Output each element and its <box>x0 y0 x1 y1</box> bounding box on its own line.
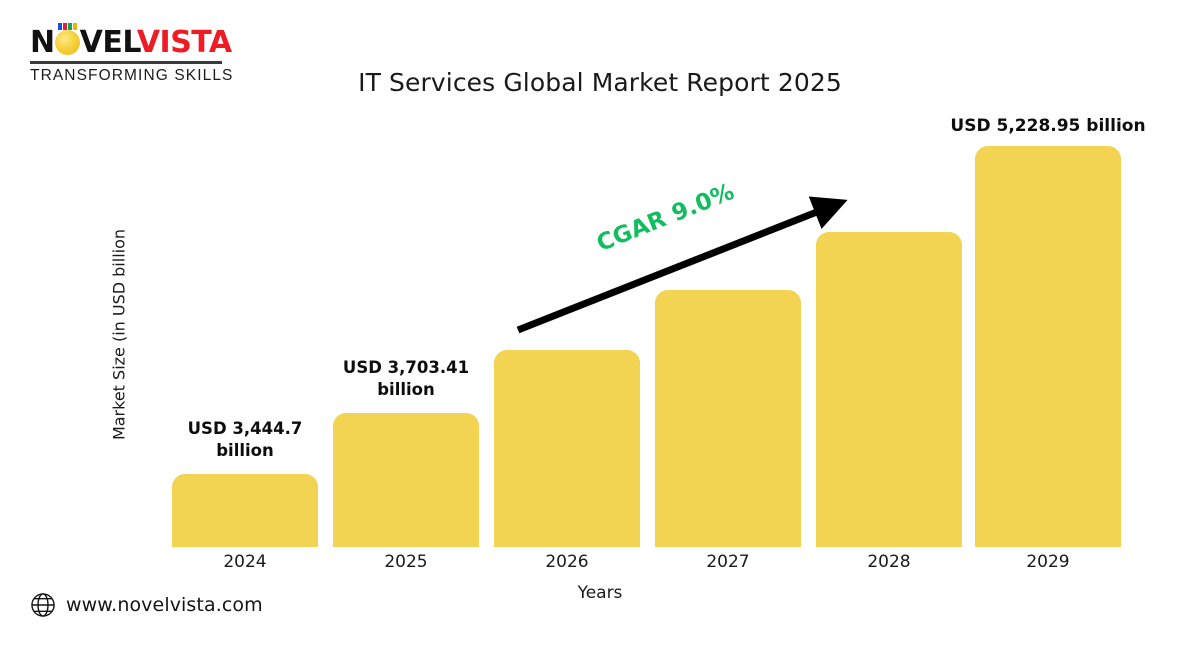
bar-value-label-2024: USD 3,444.7 billion <box>155 418 335 463</box>
x-tick-2029: 2029 <box>975 552 1121 572</box>
x-tick-2025: 2025 <box>333 552 479 572</box>
bar-value-label-2029: USD 5,228.95 billion <box>928 115 1168 138</box>
bar-2027 <box>655 290 801 547</box>
bar-2026 <box>494 350 640 547</box>
site-footer: www.novelvista.com <box>30 592 263 618</box>
y-axis-title: Market Size (in USD billion <box>110 200 129 470</box>
bar-chart-plot-area: USD 3,444.7 billion USD 3,703.41 billion… <box>0 0 1200 650</box>
x-tick-2026: 2026 <box>494 552 640 572</box>
globe-icon <box>30 592 56 618</box>
bar-2029 <box>975 146 1121 547</box>
x-tick-2024: 2024 <box>172 552 318 572</box>
infographic-canvas: NVELVISTA TRANSFORMING SKILLS IT Service… <box>0 0 1200 650</box>
x-tick-2027: 2027 <box>655 552 801 572</box>
bar-2028 <box>816 232 962 547</box>
bar-2025 <box>333 413 479 547</box>
bar-2024 <box>172 474 318 547</box>
site-url-text: www.novelvista.com <box>66 594 263 616</box>
cgar-annotation-label: CGAR 9.0% <box>593 179 738 257</box>
x-tick-2028: 2028 <box>816 552 962 572</box>
bar-value-label-2025: USD 3,703.41 billion <box>316 357 496 402</box>
